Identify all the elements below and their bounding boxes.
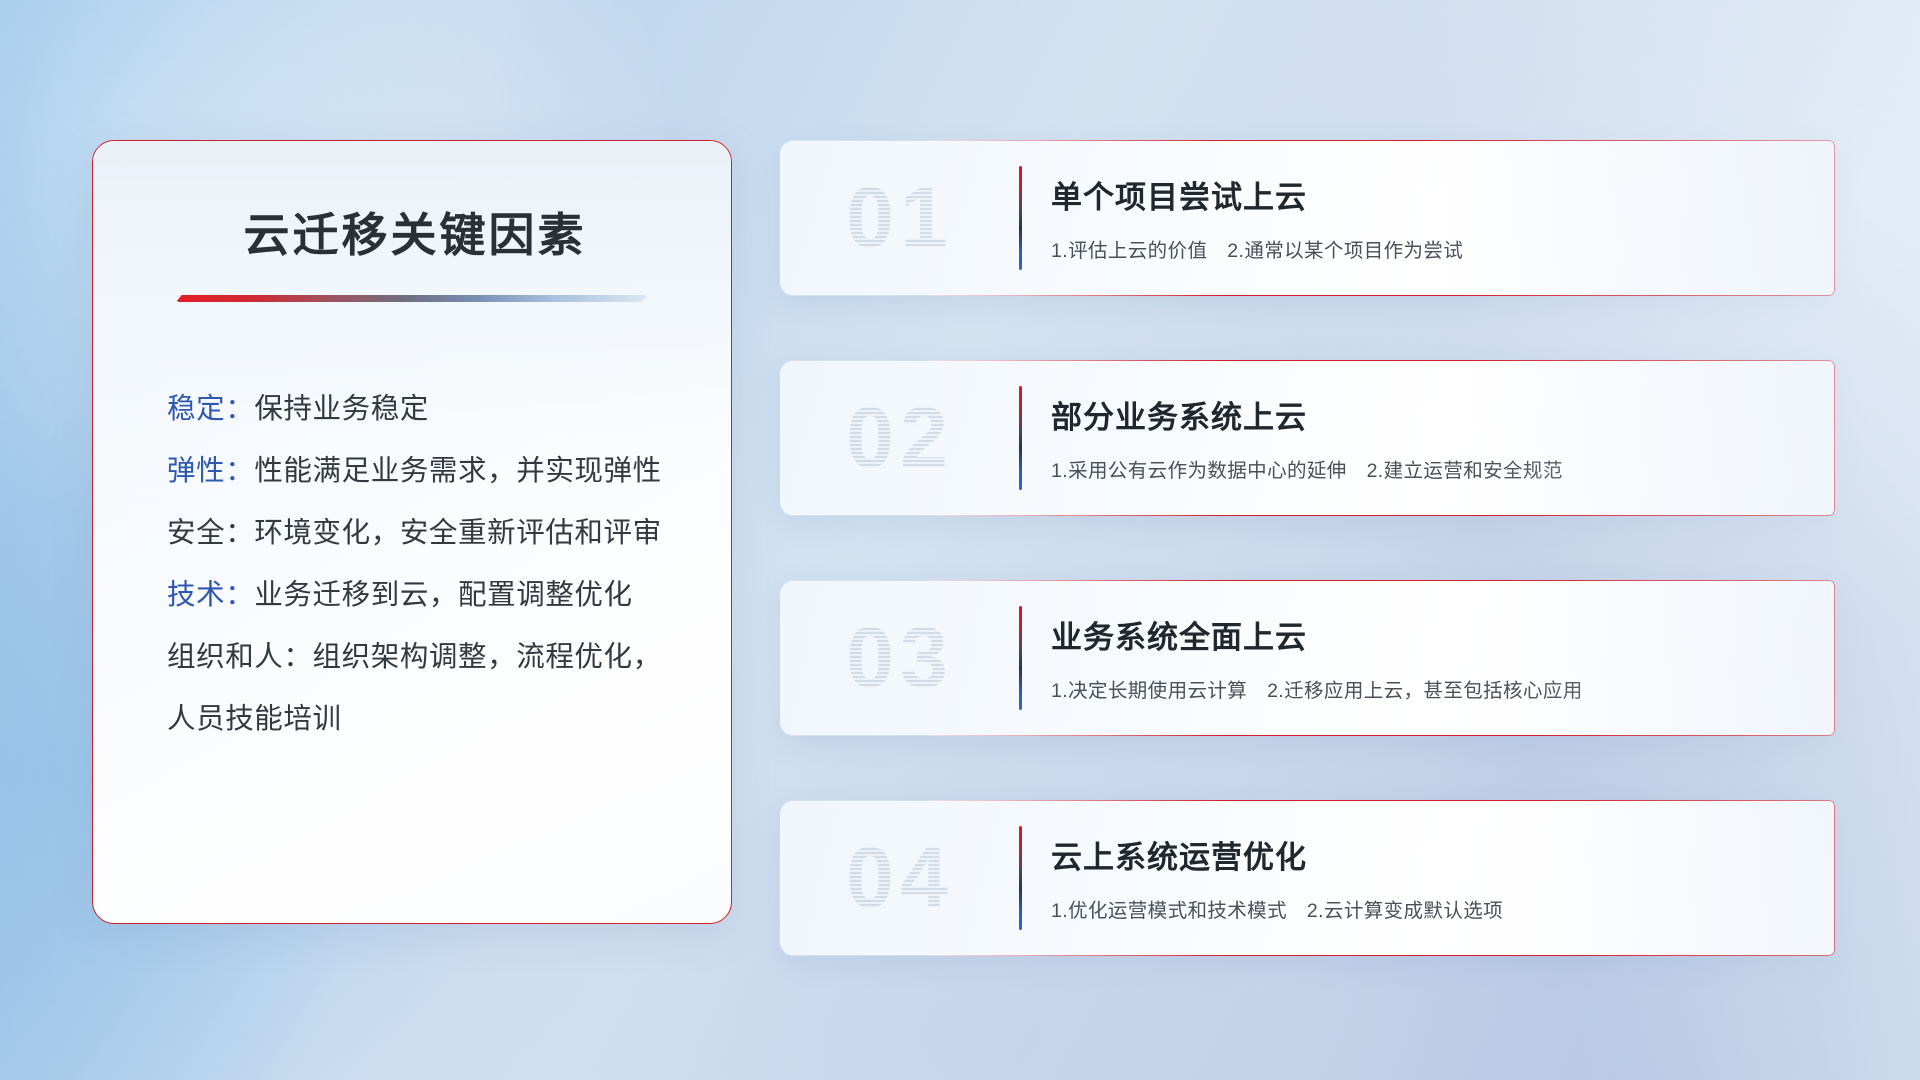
stage-number: 01 [805,164,995,272]
list-item-text: 环境变化，安全重新评估和评审 [254,517,661,549]
list-item-key: 稳定： [167,393,254,425]
key-factors-list: 稳定：保持业务稳定 弹性：性能满足业务需求，并实现弹性 安全：环境变化，安全重新… [143,378,681,750]
stage-number: 03 [805,604,995,712]
list-item: 稳定：保持业务稳定 [167,378,681,440]
stage-description: 1.采用公有云作为数据中心的延伸 2.建立运营和安全规范 [1051,454,1801,483]
list-item-key: 组织和人： [167,641,313,673]
stage-card-01[interactable]: 01 单个项目尝试上云 1.评估上云的价值 2.通常以某个项目作为尝试 [779,140,1835,296]
stage-description: 1.优化运营模式和技术模式 2.云计算变成默认选项 [1051,894,1801,923]
stage-card-02[interactable]: 02 部分业务系统上云 1.采用公有云作为数据中心的延伸 2.建立运营和安全规范 [779,360,1835,516]
stage-number: 02 [805,384,995,492]
list-item: 弹性：性能满足业务需求，并实现弹性 [167,440,681,502]
list-item-text: 性能满足业务需求，并实现弹性 [254,455,661,487]
list-item: 安全：环境变化，安全重新评估和评审 [167,502,681,564]
title-underline-divider [176,295,648,302]
stage-title: 业务系统全面上云 [1051,612,1801,657]
stage-title: 云上系统运营优化 [1051,832,1801,877]
key-factors-panel: 云迁移关键因素 稳定：保持业务稳定 弹性：性能满足业务需求，并实现弹性 安全：环… [92,140,732,924]
stage-accent-bar [1019,166,1022,270]
stage-description: 1.评估上云的价值 2.通常以某个项目作为尝试 [1051,234,1801,263]
list-item: 技术：业务迁移到云，配置调整优化 [167,564,681,626]
stage-card-04[interactable]: 04 云上系统运营优化 1.优化运营模式和技术模式 2.云计算变成默认选项 [779,800,1835,956]
list-item-key: 弹性： [167,455,254,487]
stage-accent-bar [1019,826,1022,930]
slide-canvas: 云迁移关键因素 稳定：保持业务稳定 弹性：性能满足业务需求，并实现弹性 安全：环… [0,0,1920,1080]
migration-stage-card-list: 01 单个项目尝试上云 1.评估上云的价值 2.通常以某个项目作为尝试 02 部… [779,140,1835,956]
stage-title: 单个项目尝试上云 [1051,172,1801,217]
stage-number: 04 [805,824,995,932]
stage-card-03[interactable]: 03 业务系统全面上云 1.决定长期使用云计算 2.迁移应用上云，甚至包括核心应… [779,580,1835,736]
page-title: 云迁移关键因素 [143,199,681,265]
list-item-text: 保持业务稳定 [254,393,429,425]
stage-accent-bar [1019,606,1022,710]
stage-accent-bar [1019,386,1022,490]
list-item-key: 技术： [167,579,254,611]
stage-title: 部分业务系统上云 [1051,392,1801,437]
stage-description: 1.决定长期使用云计算 2.迁移应用上云，甚至包括核心应用 [1051,674,1801,703]
list-item: 组织和人：组织架构调整，流程优化，人员技能培训 [167,626,681,750]
list-item-key: 安全： [167,517,254,549]
list-item-text: 业务迁移到云，配置调整优化 [254,579,632,611]
